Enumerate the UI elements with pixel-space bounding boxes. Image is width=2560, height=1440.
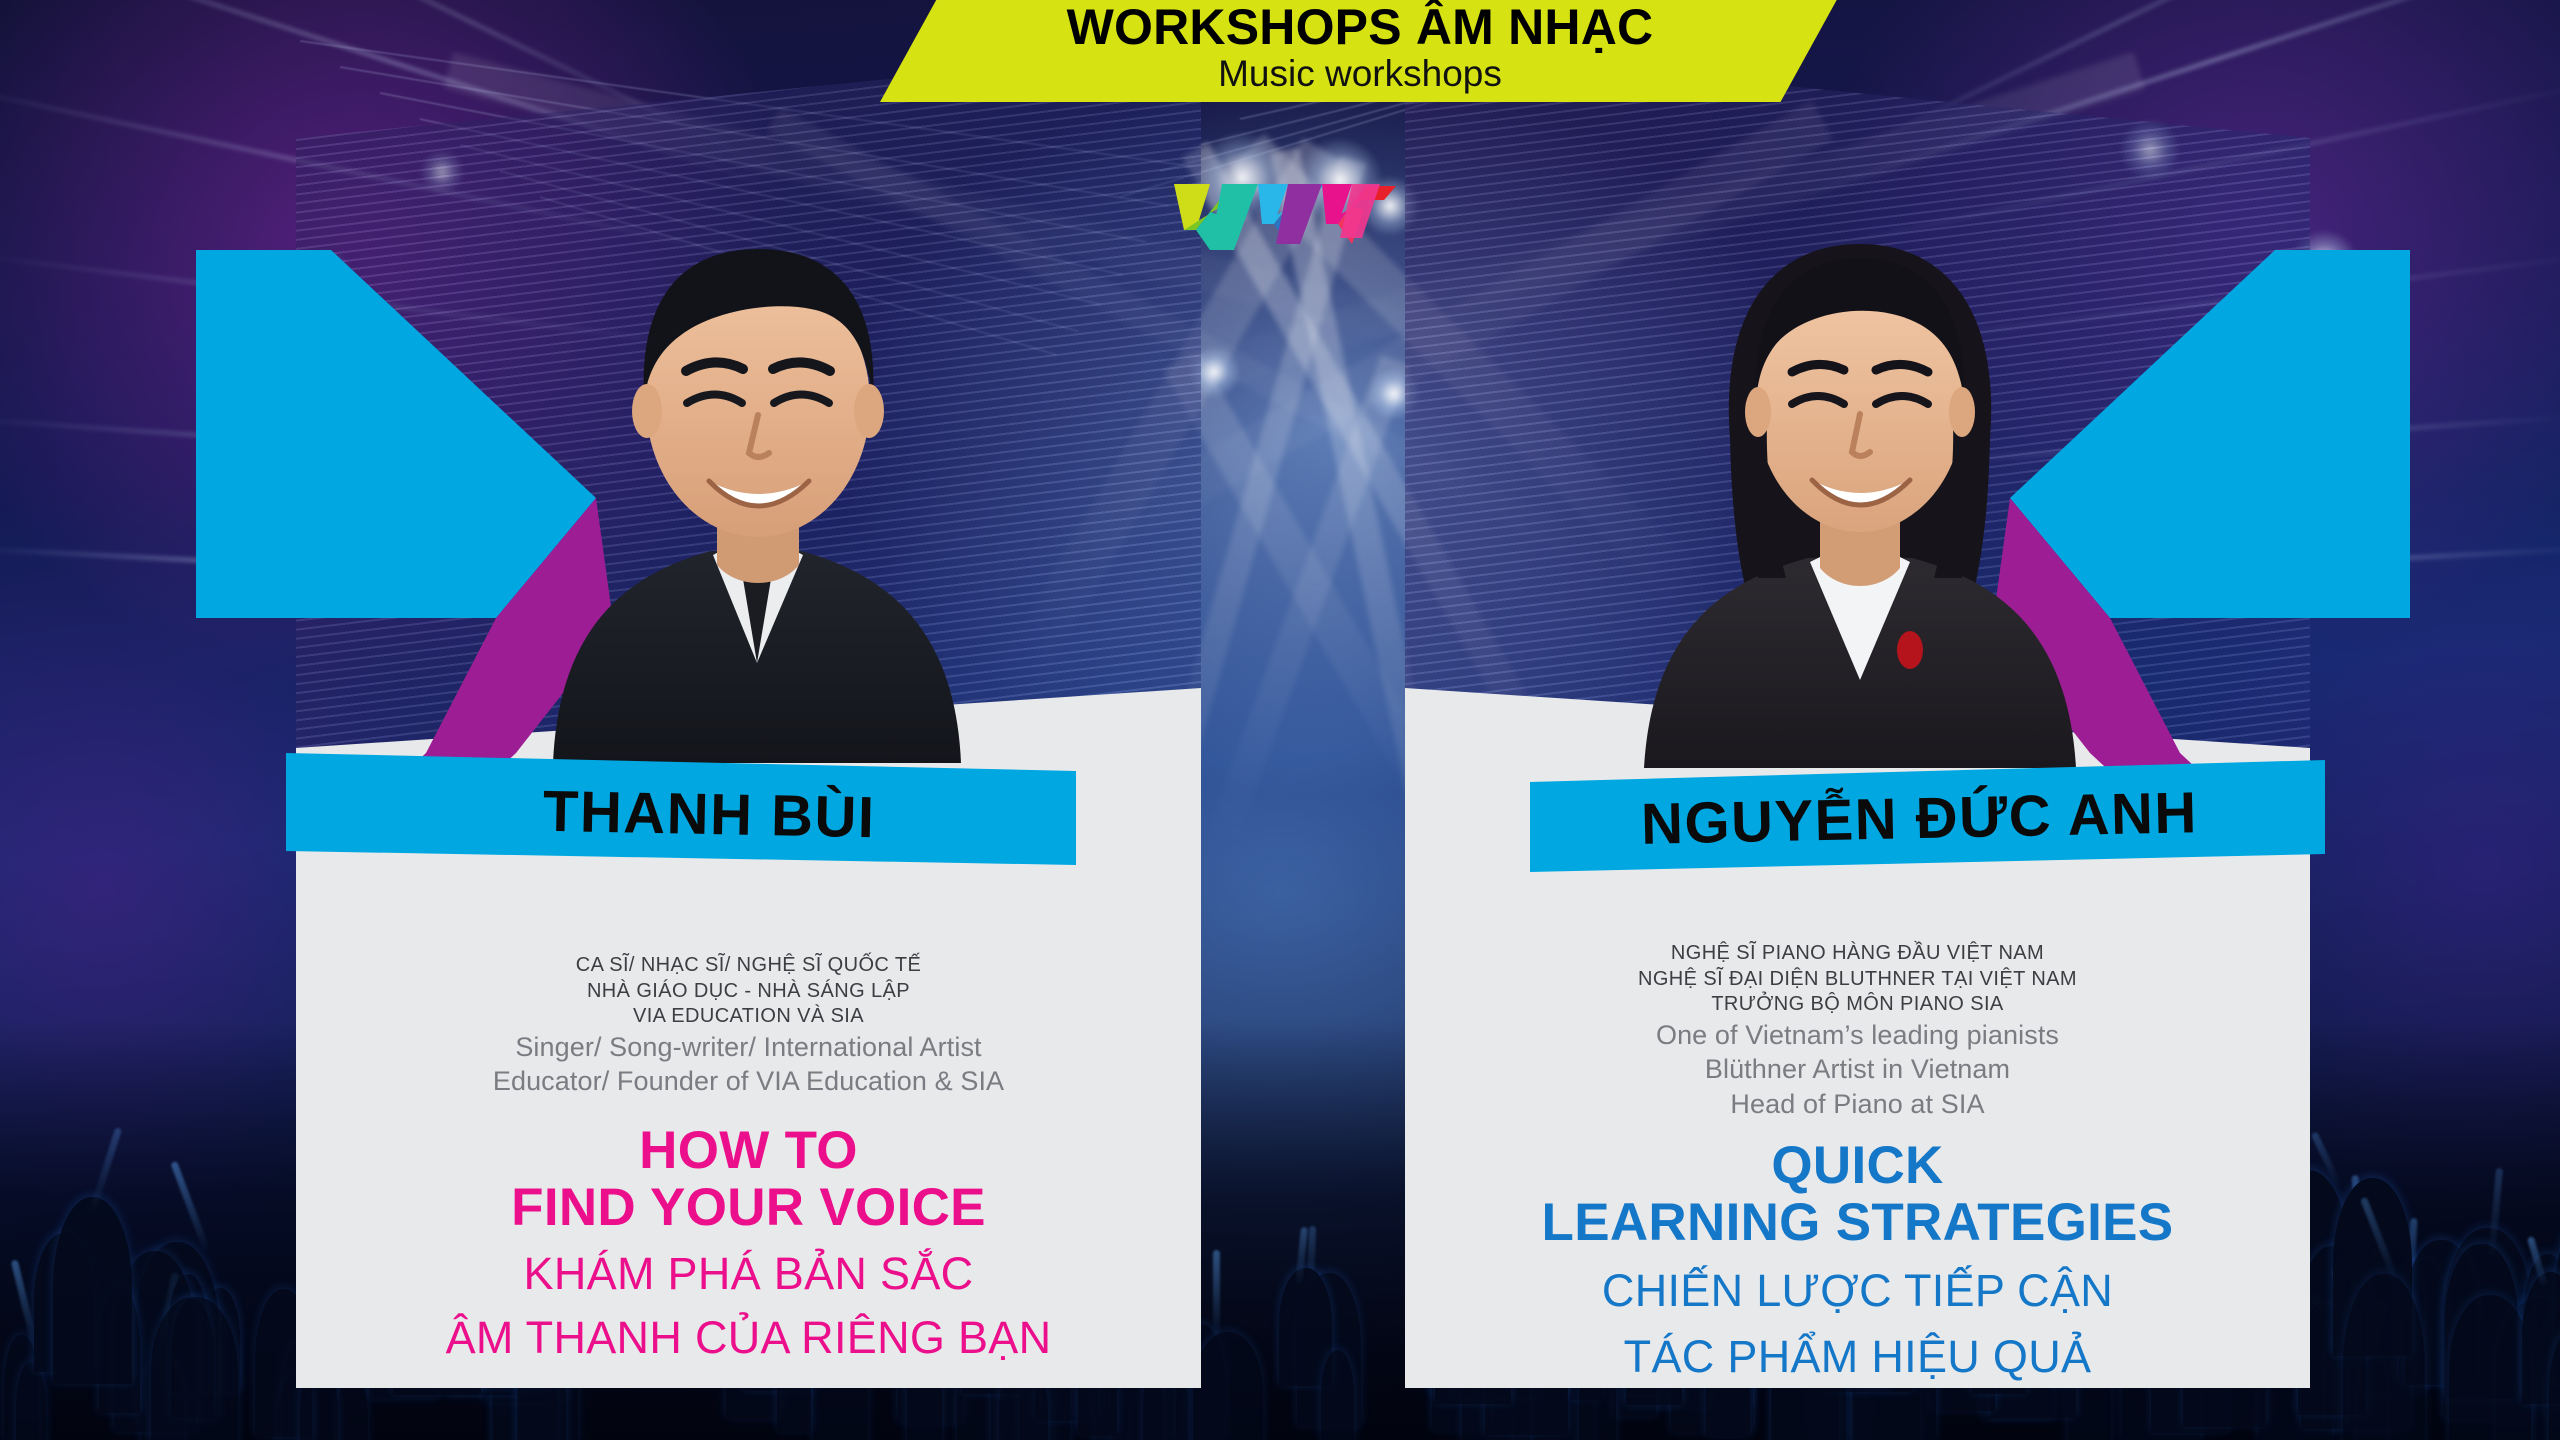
vimn-logo-svg <box>1170 178 1400 256</box>
speaker-card-nguyen-duc-anh: NGUYỄN ĐỨC ANH NGHỆ SĨ PIANO HÀNG ĐẦU VI… <box>1405 48 2310 1388</box>
speaker-credentials-left: CA SĨ/ NHẠC SĨ/ NGHỆ SĨ QUỐC TẾ NHÀ GIÁO… <box>296 953 1201 1099</box>
workshop-title-vi: ÂM THANH CỦA RIÊNG BẠN <box>296 1312 1201 1363</box>
credential-en: Blüthner Artist in Vietnam <box>1405 1052 2310 1087</box>
workshop-title-vi: TÁC PHẨM HIỆU QUẢ <box>1405 1331 2310 1382</box>
credential-vi: CA SĨ/ NHẠC SĨ/ NGHỆ SĨ QUỐC TẾ <box>296 953 1201 979</box>
credential-en: One of Vietnam’s leading pianists <box>1405 1018 2310 1053</box>
workshop-title-vi: KHÁM PHÁ BẢN SẮC <box>296 1248 1201 1299</box>
banner-title-en: Music workshops <box>1218 54 1502 95</box>
workshop-title-en: LEARNING STRATEGIES <box>1405 1195 2310 1252</box>
credential-en: Head of Piano at SIA <box>1405 1087 2310 1122</box>
workshop-title-right: QUICK LEARNING STRATEGIES CHIẾN LƯỢC TIẾ… <box>1405 1138 2310 1382</box>
workshop-title-en: HOW TO <box>296 1123 1201 1180</box>
credential-vi: NHÀ GIÁO DỤC - NHÀ SÁNG LẬP <box>296 979 1201 1005</box>
workshop-banner: WORKSHOPS ÂM NHẠC Music workshops <box>880 0 1840 102</box>
speaker-portrait-thanh-bui <box>481 103 1031 763</box>
workshop-title-vi: CHIẾN LƯỢC TIẾP CẬN <box>1405 1265 2310 1316</box>
credential-vi: TRƯỞNG BỘ MÔN PIANO SIA <box>1405 992 2310 1018</box>
vimn-logo <box>1170 178 1400 261</box>
credential-vi: NGHỆ SĨ ĐẠI DIỆN BLUTHNER TẠI VIỆT NAM <box>1405 967 2310 993</box>
credential-en: Educator/ Founder of VIA Education & SIA <box>296 1064 1201 1099</box>
credential-vi: NGHỆ SĨ PIANO HÀNG ĐẦU VIỆT NAM <box>1405 941 2310 967</box>
speaker-name-banner-left: THANH BÙI <box>286 753 1076 865</box>
speaker-portrait-nguyen-duc-anh <box>1580 108 2140 768</box>
speaker-credentials-right: NGHỆ SĨ PIANO HÀNG ĐẦU VIỆT NAM NGHỆ SĨ … <box>1405 941 2310 1121</box>
credential-en: Singer/ Song-writer/ International Artis… <box>296 1030 1201 1065</box>
banner-title-vi: WORKSHOPS ÂM NHẠC <box>1067 2 1654 52</box>
workshop-title-en: FIND YOUR VOICE <box>296 1180 1201 1237</box>
speaker-name-label: THANH BÙI <box>542 777 876 850</box>
speaker-name-label: NGUYỄN ĐỨC ANH <box>1640 779 2198 858</box>
credential-vi: VIA EDUCATION VÀ SIA <box>296 1004 1201 1030</box>
workshop-title-en: QUICK <box>1405 1138 2310 1195</box>
speaker-card-thanh-bui: THANH BÙI CA SĨ/ NHẠC SĨ/ NGHỆ SĨ QUỐC T… <box>296 48 1201 1388</box>
workshop-title-left: HOW TO FIND YOUR VOICE KHÁM PHÁ BẢN SẮC … <box>296 1123 1201 1363</box>
